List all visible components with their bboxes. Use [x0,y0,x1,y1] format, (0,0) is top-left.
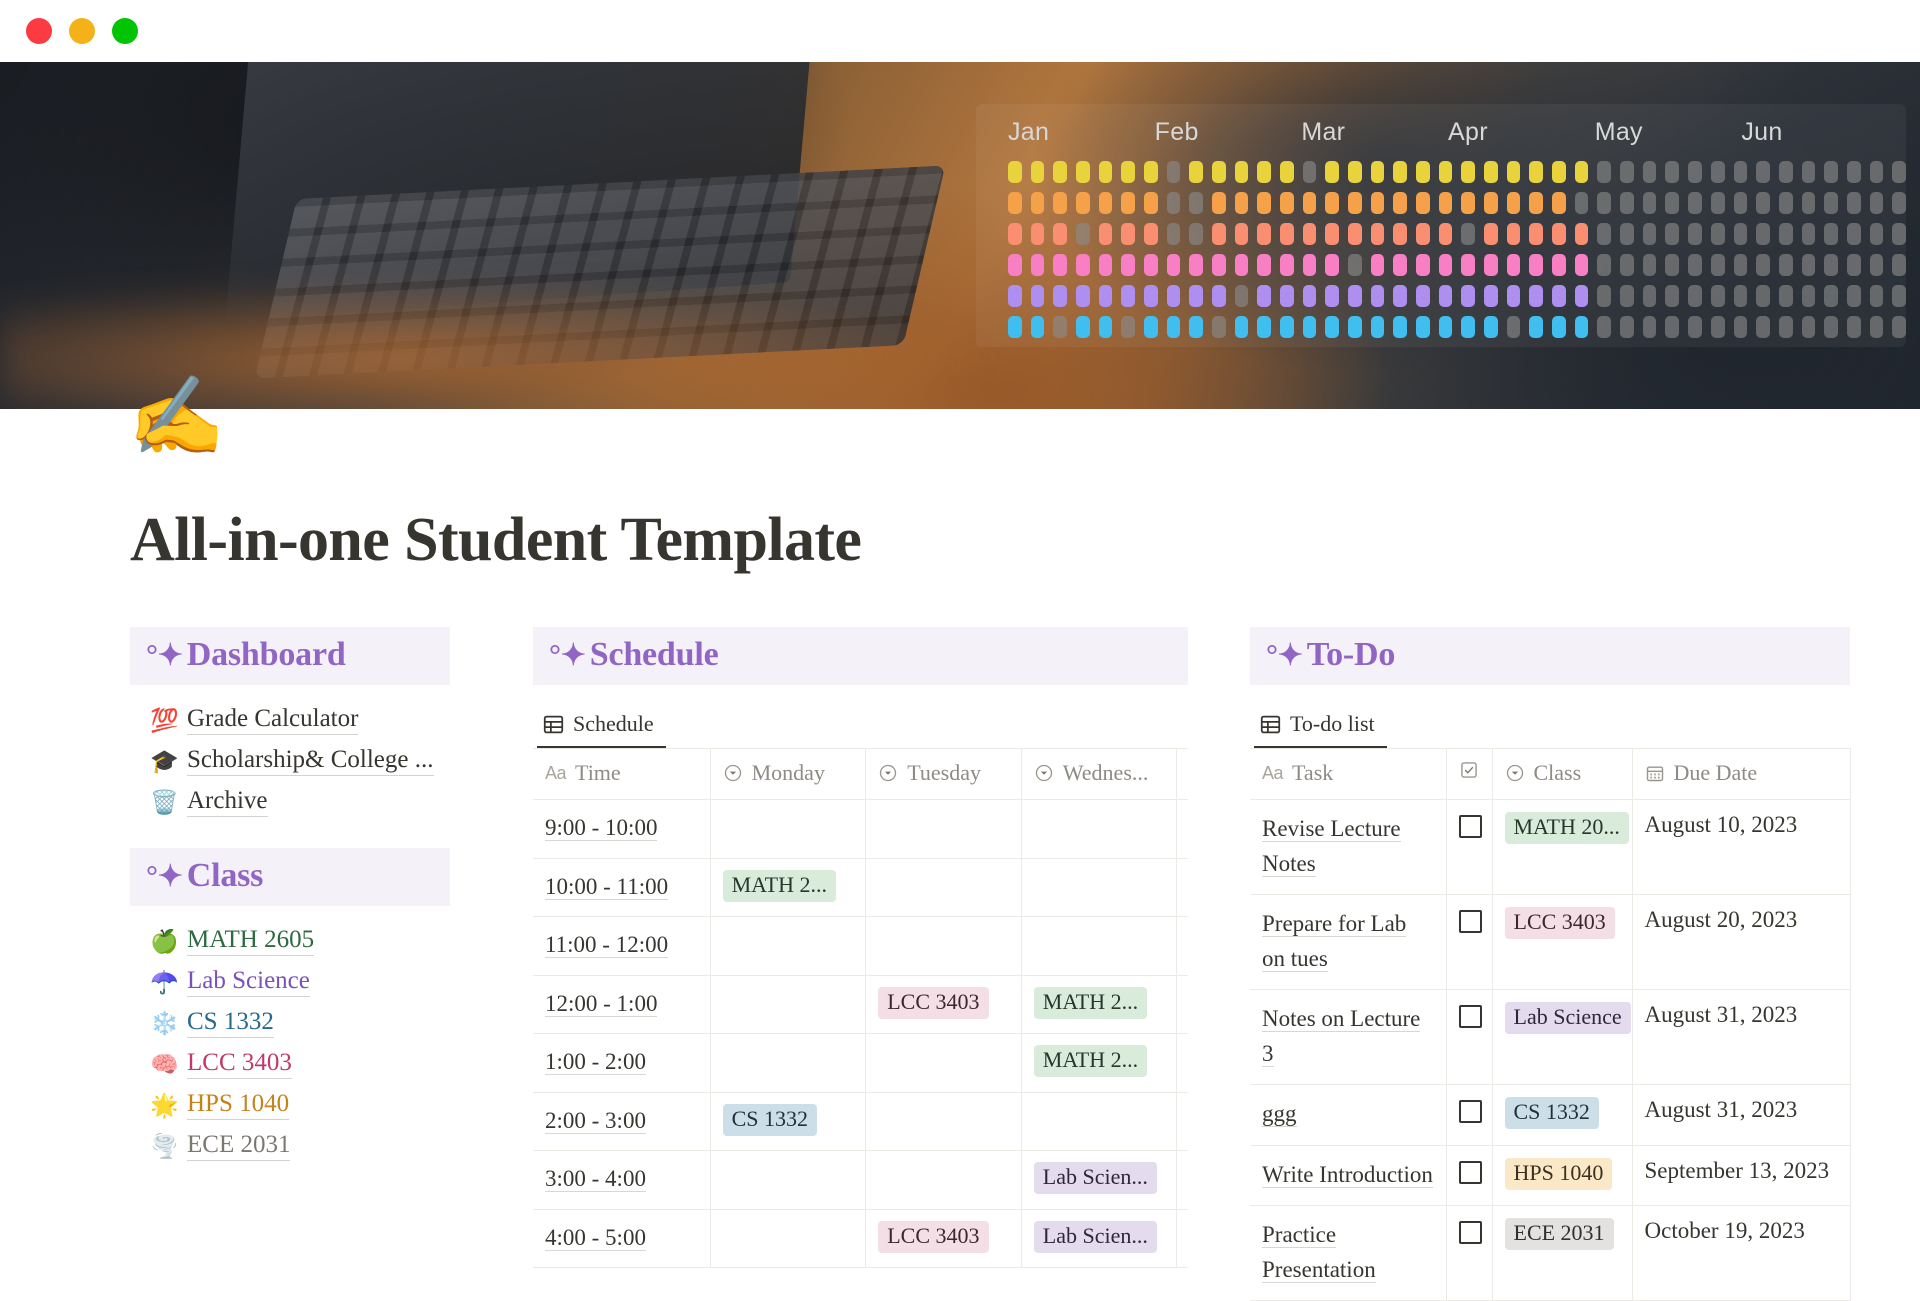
habit-cell-filled[interactable] [1189,316,1203,338]
habit-cell-filled[interactable] [1325,316,1339,338]
habit-cell-empty[interactable] [1688,254,1702,276]
schedule-row[interactable]: 9:00 - 10:00 [533,800,1188,859]
habit-cell-filled[interactable] [1484,161,1498,183]
habit-cell-filled[interactable] [1529,192,1543,214]
habit-cell-filled[interactable] [1235,161,1249,183]
habit-cell-filled[interactable] [1439,192,1453,214]
todo-checkbox[interactable] [1459,1100,1482,1123]
habit-cell-filled[interactable] [1053,285,1067,307]
schedule-cell-tuesday[interactable]: LCC 3403 [866,975,1022,1034]
habit-cell-filled[interactable] [1507,285,1521,307]
habit-cell-empty[interactable] [1824,161,1838,183]
habit-cell-empty[interactable] [1620,192,1634,214]
habit-cell-filled[interactable] [1212,192,1226,214]
habit-cell-empty[interactable] [1779,254,1793,276]
todo-checkbox[interactable] [1459,1221,1482,1244]
habit-cell-empty[interactable] [1597,161,1611,183]
habit-cell-filled[interactable] [1189,161,1203,183]
habit-cell-filled[interactable] [1507,192,1521,214]
habit-cell-empty[interactable] [1870,161,1884,183]
habit-cell-filled[interactable] [1461,192,1475,214]
habit-cell-filled[interactable] [1235,254,1249,276]
habit-cell-empty[interactable] [1802,254,1816,276]
schedule-time-cell[interactable]: 2:00 - 3:00 [533,1092,710,1151]
schedule-cell-monday[interactable]: MATH 2... [710,858,866,917]
habit-cell-empty[interactable] [1121,316,1135,338]
todo-task-cell[interactable]: Revise Lecture Notes [1250,800,1446,895]
schedule-row[interactable]: 2:00 - 3:00CS 1332CS 1332 [533,1092,1188,1151]
habit-cell-empty[interactable] [1597,254,1611,276]
habit-cell-filled[interactable] [1212,254,1226,276]
habit-cell-filled[interactable] [1416,254,1430,276]
habit-cell-filled[interactable] [1257,192,1271,214]
todo-row[interactable]: Write IntroductionHPS 1040September 13, … [1250,1145,1850,1206]
habit-cell-empty[interactable] [1734,223,1748,245]
habit-cell-filled[interactable] [1416,285,1430,307]
habit-cell-filled[interactable] [1552,285,1566,307]
habit-cell-empty[interactable] [1597,285,1611,307]
habit-cell-empty[interactable] [1643,192,1657,214]
todo-checkbox[interactable] [1459,1005,1482,1028]
dashboard-link-item-0[interactable]: 💯Grade Calculator [130,699,515,740]
habit-cell-filled[interactable] [1235,316,1249,338]
habit-cell-empty[interactable] [1802,316,1816,338]
schedule-row[interactable]: 4:00 - 5:00LCC 3403Lab Scien... [533,1209,1188,1268]
habit-cell-filled[interactable] [1212,285,1226,307]
schedule-cell-monday[interactable] [710,1151,866,1210]
habit-cell-empty[interactable] [1348,254,1362,276]
habit-cell-empty[interactable] [1665,161,1679,183]
habit-cell-filled[interactable] [1008,316,1022,338]
habit-cell-filled[interactable] [1575,316,1589,338]
habit-cell-filled[interactable] [1439,161,1453,183]
habit-cell-empty[interactable] [1303,161,1317,183]
todo-task-cell[interactable]: Write Introduction [1250,1145,1446,1206]
habit-cell-empty[interactable] [1892,223,1906,245]
todo-column-header-due-date[interactable]: Due Date [1632,749,1850,800]
schedule-cell-wednesday[interactable] [1021,1092,1177,1151]
habit-cell-empty[interactable] [1212,316,1226,338]
habit-cell-empty[interactable] [1824,223,1838,245]
habit-cell-empty[interactable] [1575,192,1589,214]
maximize-button[interactable] [112,18,138,44]
schedule-cell-monday[interactable] [710,1209,866,1268]
habit-cell-filled[interactable] [1099,161,1113,183]
schedule-cell-tuesday[interactable] [866,858,1022,917]
habit-cell-filled[interactable] [1235,223,1249,245]
schedule-column-header-wednes-[interactable]: Wednes... [1021,749,1177,800]
schedule-cell-monday[interactable] [710,917,866,976]
habit-cell-empty[interactable] [1189,192,1203,214]
todo-row[interactable]: Prepare for Lab on tuesLCC 3403August 20… [1250,895,1850,990]
habit-cell-empty[interactable] [1643,254,1657,276]
habit-cell-filled[interactable] [1257,223,1271,245]
class-tag[interactable]: Lab Scien... [1034,1221,1157,1253]
habit-cell-filled[interactable] [1416,223,1430,245]
habit-cell-filled[interactable] [1008,223,1022,245]
schedule-cell-thursday[interactable]: LCC 3403 [1177,1034,1188,1093]
habit-cell-filled[interactable] [1484,316,1498,338]
todo-class-cell[interactable]: LCC 3403 [1492,895,1632,990]
habit-cell-empty[interactable] [1892,254,1906,276]
schedule-column-header-thursda[interactable]: Thursda [1177,749,1188,800]
habit-cell-filled[interactable] [1575,285,1589,307]
habit-cell-filled[interactable] [1257,316,1271,338]
habit-cell-empty[interactable] [1643,161,1657,183]
schedule-cell-thursday[interactable] [1177,800,1188,859]
habit-cell-filled[interactable] [1121,192,1135,214]
schedule-cell-thursday[interactable] [1177,975,1188,1034]
schedule-cell-tuesday[interactable] [866,1151,1022,1210]
todo-row[interactable]: Practice PresentationECE 2031October 19,… [1250,1206,1850,1301]
habit-cell-empty[interactable] [1167,223,1181,245]
habit-cell-filled[interactable] [1529,161,1543,183]
habit-cell-filled[interactable] [1189,285,1203,307]
habit-cell-filled[interactable] [1008,285,1022,307]
habit-cell-empty[interactable] [1167,192,1181,214]
schedule-cell-wednesday[interactable] [1021,858,1177,917]
habit-cell-empty[interactable] [1643,223,1657,245]
tab-todo-list[interactable]: To-do list [1254,705,1387,748]
dashboard-link-item-2[interactable]: 🗑️Archive [130,781,515,822]
habit-cell-filled[interactable] [1099,285,1113,307]
habit-cell-filled[interactable] [1507,254,1521,276]
schedule-row[interactable]: 10:00 - 11:00MATH 2... [533,858,1188,917]
class-tag[interactable]: Lab Science [1505,1002,1631,1034]
habit-cell-filled[interactable] [1144,192,1158,214]
habit-cell-empty[interactable] [1665,316,1679,338]
todo-task-cell[interactable]: Prepare for Lab on tues [1250,895,1446,990]
habit-cell-filled[interactable] [1235,192,1249,214]
habit-cell-empty[interactable] [1779,316,1793,338]
habit-cell-filled[interactable] [1031,192,1045,214]
habit-cell-empty[interactable] [1711,285,1725,307]
schedule-cell-thursday[interactable]: CS 1332 [1177,1151,1188,1210]
habit-cell-filled[interactable] [1212,223,1226,245]
habit-cell-empty[interactable] [1756,192,1770,214]
schedule-cell-wednesday[interactable]: Lab Scien... [1021,1209,1177,1268]
habit-cell-filled[interactable] [1099,316,1113,338]
habit-cell-empty[interactable] [1756,316,1770,338]
habit-cell-filled[interactable] [1280,285,1294,307]
todo-class-cell[interactable]: CS 1332 [1492,1085,1632,1146]
todo-class-cell[interactable]: ECE 2031 [1492,1206,1632,1301]
habit-cell-empty[interactable] [1461,223,1475,245]
schedule-time-cell[interactable]: 12:00 - 1:00 [533,975,710,1034]
habit-cell-filled[interactable] [1348,192,1362,214]
schedule-cell-monday[interactable] [710,975,866,1034]
habit-cell-empty[interactable] [1847,192,1861,214]
todo-checkbox-cell[interactable] [1446,1145,1492,1206]
habit-cell-filled[interactable] [1439,223,1453,245]
habit-cell-filled[interactable] [1552,223,1566,245]
todo-due-date-cell[interactable]: October 19, 2023 [1632,1206,1850,1301]
schedule-cell-thursday[interactable]: CS 1332 [1177,1092,1188,1151]
habit-cell-filled[interactable] [1189,254,1203,276]
schedule-cell-wednesday[interactable]: MATH 2... [1021,1034,1177,1093]
habit-cell-filled[interactable] [1461,285,1475,307]
class-tag[interactable]: CS 1332 [723,1104,817,1136]
todo-due-date-cell[interactable]: August 31, 2023 [1632,1085,1850,1146]
schedule-cell-tuesday[interactable] [866,1034,1022,1093]
habit-cell-empty[interactable] [1620,223,1634,245]
habit-cell-empty[interactable] [1734,254,1748,276]
class-tag[interactable]: LCC 3403 [878,1221,988,1253]
habit-cell-filled[interactable] [1348,223,1362,245]
habit-cell-filled[interactable] [1484,223,1498,245]
schedule-column-header-tuesday[interactable]: Tuesday [866,749,1022,800]
class-tag[interactable]: HPS 1040 [1505,1158,1613,1190]
habit-cell-filled[interactable] [1167,316,1181,338]
habit-cell-filled[interactable] [1303,316,1317,338]
habit-cell-empty[interactable] [1189,223,1203,245]
todo-checkbox-cell[interactable] [1446,895,1492,990]
habit-cell-filled[interactable] [1280,223,1294,245]
schedule-time-cell[interactable]: 11:00 - 12:00 [533,917,710,976]
schedule-cell-tuesday[interactable]: LCC 3403 [866,1209,1022,1268]
habit-cell-filled[interactable] [1371,161,1385,183]
todo-row[interactable]: gggCS 1332August 31, 2023 [1250,1085,1850,1146]
habit-cell-empty[interactable] [1053,316,1067,338]
habit-cell-filled[interactable] [1552,192,1566,214]
class-tag[interactable]: LCC 3403 [878,987,988,1019]
habit-cell-filled[interactable] [1529,285,1543,307]
schedule-time-cell[interactable]: 1:00 - 2:00 [533,1034,710,1093]
todo-task-cell[interactable]: Practice Presentation [1250,1206,1446,1301]
habit-cell-empty[interactable] [1665,254,1679,276]
schedule-row[interactable]: 1:00 - 2:00MATH 2...LCC 3403 [533,1034,1188,1093]
habit-cell-empty[interactable] [1167,161,1181,183]
habit-cell-filled[interactable] [1303,192,1317,214]
habit-cell-empty[interactable] [1756,254,1770,276]
habit-cell-filled[interactable] [1167,285,1181,307]
habit-cell-filled[interactable] [1144,223,1158,245]
habit-cell-filled[interactable] [1303,285,1317,307]
habit-cell-filled[interactable] [1552,161,1566,183]
habit-cell-empty[interactable] [1847,161,1861,183]
habit-cell-filled[interactable] [1439,254,1453,276]
habit-cell-filled[interactable] [1371,192,1385,214]
habit-cell-filled[interactable] [1212,161,1226,183]
habit-cell-empty[interactable] [1847,254,1861,276]
habit-cell-filled[interactable] [1099,192,1113,214]
habit-cell-empty[interactable] [1688,316,1702,338]
habit-cell-empty[interactable] [1779,223,1793,245]
habit-cell-empty[interactable] [1802,223,1816,245]
todo-checkbox-cell[interactable] [1446,990,1492,1085]
schedule-cell-monday[interactable] [710,800,866,859]
habit-cell-filled[interactable] [1099,254,1113,276]
habit-cell-filled[interactable] [1303,254,1317,276]
todo-class-cell[interactable]: Lab Science [1492,990,1632,1085]
habit-cell-empty[interactable] [1076,223,1090,245]
habit-cell-empty[interactable] [1802,161,1816,183]
class-link-item-4[interactable]: 🌟HPS 1040 [130,1084,515,1125]
todo-class-cell[interactable]: MATH 20... [1492,800,1632,895]
habit-cell-empty[interactable] [1847,285,1861,307]
habit-cell-filled[interactable] [1348,285,1362,307]
todo-due-date-cell[interactable]: August 10, 2023 [1632,800,1850,895]
habit-cell-empty[interactable] [1824,316,1838,338]
class-tag[interactable]: Lab Scien... [1034,1162,1157,1194]
schedule-time-cell[interactable]: 3:00 - 4:00 [533,1151,710,1210]
habit-cell-filled[interactable] [1325,192,1339,214]
todo-checkbox-cell[interactable] [1446,1206,1492,1301]
habit-cell-filled[interactable] [1529,223,1543,245]
habit-cell-filled[interactable] [1552,316,1566,338]
schedule-cell-tuesday[interactable] [866,917,1022,976]
habit-cell-filled[interactable] [1393,161,1407,183]
dashboard-link-item-1[interactable]: 🎓Scholarship& College ... [130,740,515,781]
habit-cell-empty[interactable] [1824,254,1838,276]
habit-cell-filled[interactable] [1031,223,1045,245]
habit-cell-empty[interactable] [1620,316,1634,338]
schedule-cell-monday[interactable] [710,1034,866,1093]
todo-task-cell[interactable]: ggg [1250,1085,1446,1146]
habit-cell-filled[interactable] [1484,285,1498,307]
habit-cell-filled[interactable] [1257,285,1271,307]
habit-cell-empty[interactable] [1802,192,1816,214]
class-tag[interactable]: LCC 3403 [1505,907,1615,939]
habit-cell-empty[interactable] [1734,316,1748,338]
tab-schedule[interactable]: Schedule [537,705,666,748]
todo-checkbox-cell[interactable] [1446,800,1492,895]
class-tag[interactable]: MATH 2... [1034,987,1147,1019]
class-link-item-2[interactable]: ❄️CS 1332 [130,1002,515,1043]
schedule-cell-thursday[interactable] [1177,1209,1188,1268]
habit-cell-filled[interactable] [1280,254,1294,276]
habit-cell-empty[interactable] [1665,223,1679,245]
habit-cell-empty[interactable] [1620,285,1634,307]
schedule-cell-thursday[interactable] [1177,917,1188,976]
habit-cell-filled[interactable] [1280,192,1294,214]
habit-cell-empty[interactable] [1711,192,1725,214]
habit-cell-filled[interactable] [1461,254,1475,276]
habit-cell-filled[interactable] [1031,285,1045,307]
habit-cell-filled[interactable] [1439,316,1453,338]
class-tag[interactable]: ECE 2031 [1505,1218,1614,1250]
habit-cell-filled[interactable] [1144,161,1158,183]
todo-due-date-cell[interactable]: August 31, 2023 [1632,990,1850,1085]
todo-task-cell[interactable]: Notes on Lecture 3 [1250,990,1446,1085]
habit-cell-filled[interactable] [1461,316,1475,338]
habit-cell-empty[interactable] [1824,192,1838,214]
schedule-row[interactable]: 11:00 - 12:00 [533,917,1188,976]
habit-cell-filled[interactable] [1371,254,1385,276]
habit-cell-empty[interactable] [1847,223,1861,245]
schedule-cell-tuesday[interactable] [866,800,1022,859]
habit-cell-empty[interactable] [1620,254,1634,276]
habit-cell-empty[interactable] [1734,285,1748,307]
habit-cell-filled[interactable] [1484,192,1498,214]
habit-cell-filled[interactable] [1167,254,1181,276]
habit-cell-empty[interactable] [1688,223,1702,245]
habit-cell-filled[interactable] [1325,223,1339,245]
schedule-cell-wednesday[interactable]: Lab Scien... [1021,1151,1177,1210]
habit-cell-filled[interactable] [1371,316,1385,338]
habit-cell-filled[interactable] [1076,316,1090,338]
habit-cell-empty[interactable] [1665,192,1679,214]
habit-cell-empty[interactable] [1597,223,1611,245]
schedule-cell-wednesday[interactable]: MATH 2... [1021,975,1177,1034]
habit-cell-filled[interactable] [1031,161,1045,183]
habit-cell-empty[interactable] [1756,285,1770,307]
habit-cell-filled[interactable] [1031,254,1045,276]
todo-due-date-cell[interactable]: August 20, 2023 [1632,895,1850,990]
habit-cell-empty[interactable] [1688,161,1702,183]
habit-cell-filled[interactable] [1121,285,1135,307]
habit-cell-filled[interactable] [1008,192,1022,214]
habit-cell-empty[interactable] [1870,192,1884,214]
class-link-item-0[interactable]: 🍏MATH 2605 [130,920,515,961]
habit-cell-filled[interactable] [1393,254,1407,276]
todo-due-date-cell[interactable]: September 13, 2023 [1632,1145,1850,1206]
habit-cell-filled[interactable] [1008,161,1022,183]
habit-cell-filled[interactable] [1575,161,1589,183]
habit-cell-filled[interactable] [1325,161,1339,183]
habit-cell-empty[interactable] [1756,161,1770,183]
habit-cell-filled[interactable] [1144,316,1158,338]
habit-cell-filled[interactable] [1575,223,1589,245]
todo-checkbox[interactable] [1459,815,1482,838]
todo-column-header-class[interactable]: Class [1492,749,1632,800]
habit-cell-filled[interactable] [1439,285,1453,307]
todo-row[interactable]: Revise Lecture NotesMATH 20...August 10,… [1250,800,1850,895]
habit-cell-filled[interactable] [1507,161,1521,183]
habit-cell-empty[interactable] [1892,316,1906,338]
habit-cell-filled[interactable] [1031,316,1045,338]
habit-cell-filled[interactable] [1053,161,1067,183]
schedule-cell-wednesday[interactable] [1021,917,1177,976]
habit-cell-empty[interactable] [1734,161,1748,183]
habit-cell-filled[interactable] [1280,316,1294,338]
habit-cell-filled[interactable] [1348,161,1362,183]
habit-cell-empty[interactable] [1824,285,1838,307]
schedule-cell-wednesday[interactable] [1021,800,1177,859]
close-button[interactable] [26,18,52,44]
habit-cell-empty[interactable] [1688,285,1702,307]
class-link-item-3[interactable]: 🧠LCC 3403 [130,1043,515,1084]
schedule-row[interactable]: 3:00 - 4:00Lab Scien...CS 1332 [533,1151,1188,1210]
schedule-time-cell[interactable]: 9:00 - 10:00 [533,800,710,859]
schedule-column-header-monday[interactable]: Monday [710,749,866,800]
habit-cell-filled[interactable] [1416,316,1430,338]
habit-cell-filled[interactable] [1393,223,1407,245]
habit-cell-empty[interactable] [1734,192,1748,214]
habit-cell-filled[interactable] [1280,161,1294,183]
habit-cell-empty[interactable] [1779,192,1793,214]
habit-cell-filled[interactable] [1053,223,1067,245]
class-tag[interactable]: MATH 2... [723,870,836,902]
habit-cell-filled[interactable] [1099,223,1113,245]
habit-cell-empty[interactable] [1892,285,1906,307]
habit-cell-filled[interactable] [1008,254,1022,276]
habit-cell-empty[interactable] [1870,316,1884,338]
todo-checkbox[interactable] [1459,1161,1482,1184]
habit-cell-empty[interactable] [1711,316,1725,338]
habit-cell-empty[interactable] [1688,192,1702,214]
habit-cell-empty[interactable] [1711,254,1725,276]
habit-cell-empty[interactable] [1756,223,1770,245]
habit-cell-filled[interactable] [1076,161,1090,183]
habit-cell-filled[interactable] [1053,254,1067,276]
habit-cell-filled[interactable] [1416,161,1430,183]
habit-cell-empty[interactable] [1779,285,1793,307]
habit-cell-filled[interactable] [1575,254,1589,276]
habit-cell-filled[interactable] [1257,161,1271,183]
habit-cell-filled[interactable] [1053,192,1067,214]
habit-cell-empty[interactable] [1643,316,1657,338]
